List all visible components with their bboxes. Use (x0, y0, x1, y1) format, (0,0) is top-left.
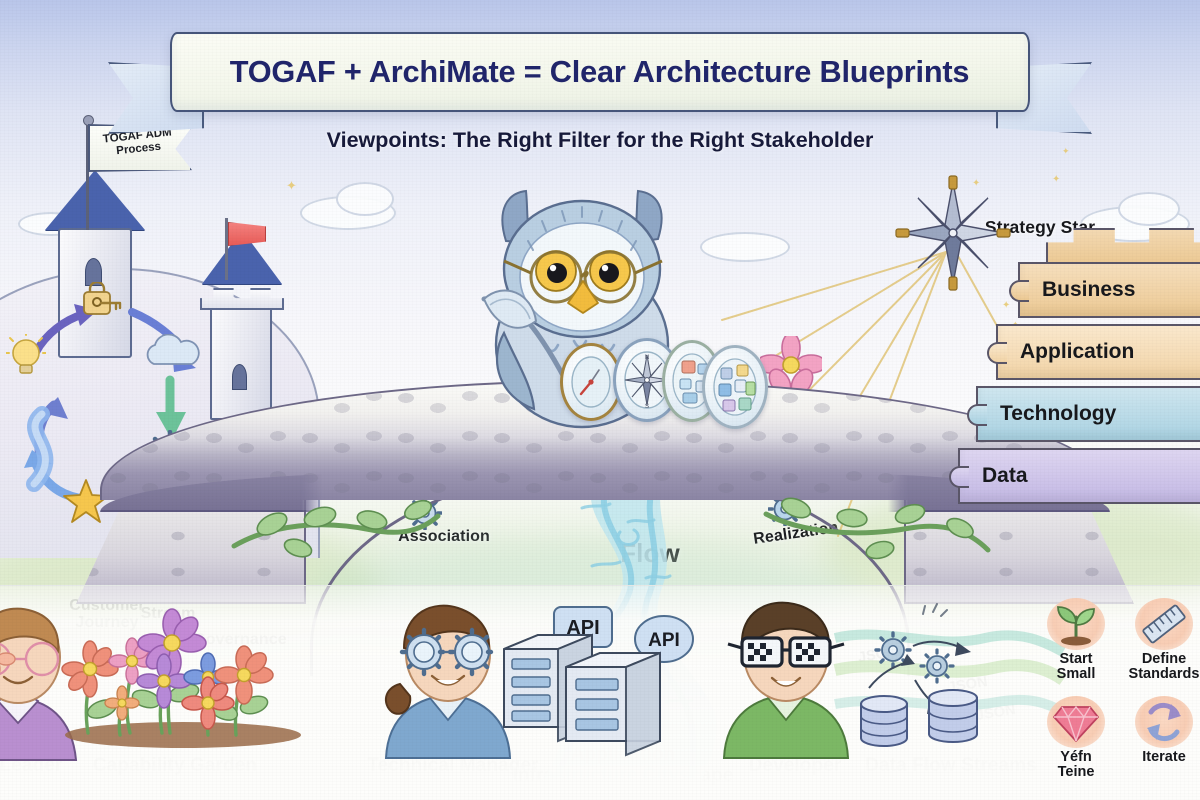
mosaic-lens-icon[interactable] (702, 345, 768, 429)
layer-step-application[interactable]: Application (996, 324, 1200, 380)
tip-define-standards[interactable]: Define Standards (1122, 598, 1200, 682)
layer-label-application: Application (1020, 340, 1134, 364)
svg-text:API: API (648, 630, 680, 651)
compass-rose-star-icon (898, 178, 1008, 288)
lightbulb-icon (6, 334, 46, 385)
sparkle-icon: ✦ (286, 178, 297, 194)
layer-label-business: Business (1042, 278, 1135, 302)
tip-value-team[interactable]: Yéfn Teine (1034, 696, 1118, 780)
layer-step-business[interactable]: Business (1018, 262, 1200, 318)
tip-start-small[interactable]: Start Small (1034, 598, 1118, 682)
avatar-technical-manager (378, 600, 518, 758)
vine-left (232, 500, 442, 570)
banner: TOGAF + ArchiMate = Clear Architecture B… (108, 24, 1092, 136)
ruler-icon (1135, 598, 1193, 650)
layer-steps: Business Application Technology Data (958, 262, 1200, 524)
puzzle-knob-icon (949, 466, 969, 488)
infographic-canvas: ✦ ✦ ✦ ✦ ✦ ✦ ✦ TOGAF + ArchiMate = Clear … (0, 0, 1200, 800)
vine-right (760, 498, 990, 576)
layer-step-data[interactable]: Data (958, 448, 1200, 504)
cloud-icon (336, 182, 394, 216)
gem-icon (1047, 696, 1105, 748)
tip-label-iterate: Iterate (1122, 750, 1200, 765)
puzzle-knob-icon (1009, 280, 1029, 302)
svg-text:N: N (645, 355, 649, 361)
cloud-icon (1118, 192, 1180, 226)
banner-plate: TOGAF + ArchiMate = Clear Architecture B… (170, 32, 1030, 112)
page-title: TOGAF + ArchiMate = Clear Architecture B… (230, 54, 970, 90)
puzzle-knob-icon (967, 404, 987, 426)
cloud-icon (142, 334, 204, 375)
capability-garden (58, 613, 308, 748)
seedling-icon (1047, 598, 1105, 650)
tip-label-value-team: Yéfn Teine (1034, 750, 1118, 780)
layer-label-data: Data (982, 464, 1028, 488)
layer-step-technology[interactable]: Technology (976, 386, 1200, 442)
tip-label-start-small: Start Small (1034, 652, 1118, 682)
application-infrastructure-cityscape: API API (500, 605, 730, 750)
tips-grid: Start Small Define Standards (1032, 592, 1200, 792)
tower-battlement (200, 288, 284, 310)
data-flow-streams (845, 608, 1060, 748)
tower-roof-icon (45, 170, 145, 230)
avatar-developer (716, 600, 856, 758)
page-subtitle: Viewpoints: The Right Filter for the Rig… (0, 128, 1200, 153)
sparkle-icon: ✦ (1052, 174, 1060, 185)
flag-pole (225, 218, 228, 280)
padlock-key-icon (80, 282, 126, 325)
layer-label-technology: Technology (1000, 402, 1116, 426)
refresh-cycle-icon (1135, 696, 1193, 748)
svg-text:S: S (645, 404, 649, 410)
puzzle-knob-icon (987, 342, 1007, 364)
tip-iterate[interactable]: Iterate (1122, 696, 1200, 765)
tip-label-define-standards: Define Standards (1122, 652, 1200, 682)
